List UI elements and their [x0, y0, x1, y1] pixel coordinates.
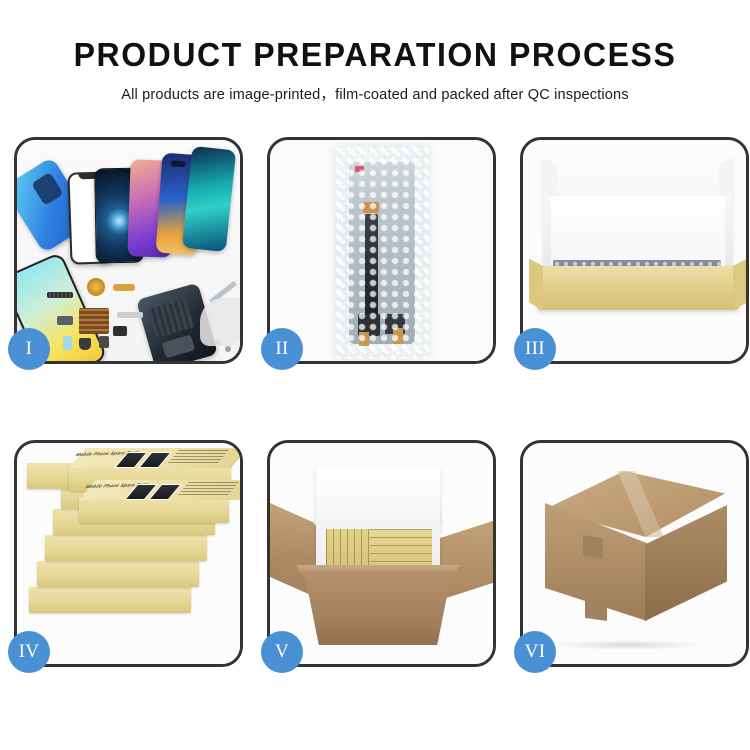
step-6-image — [523, 443, 746, 664]
carton-tab-upper — [583, 535, 603, 559]
step-5-image — [270, 443, 493, 664]
step-badge-4: IV — [8, 631, 50, 673]
small-component-3 — [63, 336, 72, 350]
bubble-wrap-bag — [335, 146, 429, 359]
kraft-box-4 — [37, 561, 199, 587]
carton-tab-lower — [585, 599, 607, 621]
kraft-box-tray — [537, 266, 739, 310]
carton-body — [304, 571, 452, 645]
flex-cable-strip — [365, 214, 378, 318]
carton-shadow — [553, 640, 703, 650]
connector-strip-part — [47, 292, 73, 298]
page-subtitle: All products are image-printed，film-coat… — [0, 73, 750, 104]
teal-wallpaper-phone — [182, 146, 236, 252]
page-title: PRODUCT PREPARATION PROCESS — [11, 0, 739, 73]
packed-kraft-boxes — [326, 529, 432, 571]
kraft-box-stack: Mobile Phone Spare Parts Mobile Phone Sp… — [23, 457, 235, 655]
step-2-image — [270, 140, 493, 361]
hand-shape — [200, 298, 240, 346]
step-panel-5: V — [267, 440, 496, 667]
screw-2 — [225, 346, 231, 352]
product-preparation-page: PRODUCT PREPARATION PROCESS All products… — [0, 0, 750, 750]
flex-cable-part-1 — [113, 284, 135, 291]
gold-contact-1 — [359, 332, 369, 346]
step-badge-1: I — [8, 328, 50, 370]
kraft-box-top-front: Mobile Phone Spare Parts — [79, 497, 229, 523]
step-panel-3: III — [520, 137, 749, 364]
process-steps-grid: I II — [14, 137, 738, 683]
small-component-5 — [99, 336, 109, 348]
flex-cable-part-2 — [117, 312, 143, 318]
step-3-image — [523, 140, 746, 361]
step-4-image: Mobile Phone Spare Parts Mobile Phone Sp… — [17, 443, 240, 664]
step-badge-2: II — [261, 328, 303, 370]
small-component-4 — [79, 338, 91, 350]
small-component-2 — [113, 326, 127, 336]
step-1-image — [17, 140, 240, 361]
step-panel-4: Mobile Phone Spare Parts Mobile Phone Sp… — [14, 440, 243, 667]
speaker-coil-part — [87, 278, 105, 296]
step-badge-5: V — [261, 631, 303, 673]
kraft-box-3 — [45, 535, 207, 561]
red-label-sticker — [355, 166, 364, 172]
step-badge-6: VI — [514, 631, 556, 673]
white-foam-sheet — [551, 196, 725, 270]
step-panel-1: I — [14, 137, 243, 364]
small-component-1 — [57, 316, 73, 325]
step-panel-2: II — [267, 137, 496, 364]
kraft-box-5 — [29, 587, 191, 613]
lcd-screen-assembly — [349, 162, 415, 344]
step-badge-3: III — [514, 328, 556, 370]
gold-connector-top — [363, 202, 379, 213]
gold-contact-2 — [393, 328, 403, 344]
page-header: PRODUCT PREPARATION PROCESS All products… — [0, 0, 750, 104]
step-panel-6: VI — [520, 440, 749, 667]
chip-grid-part — [79, 308, 109, 334]
